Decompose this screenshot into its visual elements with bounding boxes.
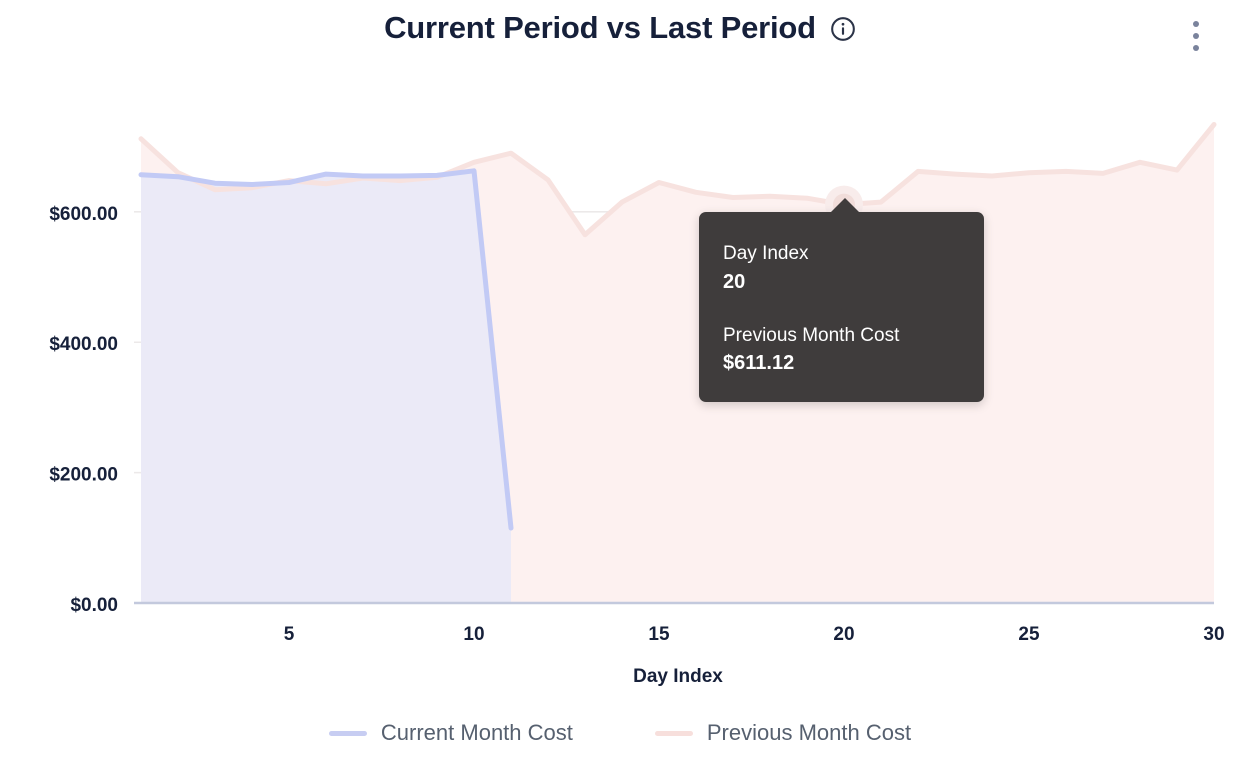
x-axis-tick-label: 15 <box>648 624 670 645</box>
hover-point-marker <box>825 186 863 224</box>
y-axis-tick-label: $200.00 <box>49 465 118 486</box>
legend-item-current-month-cost[interactable]: Current Month Cost <box>329 722 573 744</box>
chart-plot-area[interactable]: $0.00$200.00$400.00$600.00 51015202530 D… <box>0 0 1240 772</box>
x-axis-tick-label: 25 <box>1018 624 1040 645</box>
x-axis-title: Day Index <box>633 666 723 687</box>
legend-item-previous-month-cost[interactable]: Previous Month Cost <box>655 722 911 744</box>
legend-swatch <box>655 731 693 736</box>
legend-swatch <box>329 731 367 736</box>
y-axis-tick-label: $0.00 <box>70 595 118 616</box>
chart-svg: $0.00$200.00$400.00$600.00 51015202530 D… <box>0 0 1240 772</box>
chart-legend: Current Month Cost Previous Month Cost <box>0 722 1240 744</box>
y-axis-tick-label: $600.00 <box>49 204 118 225</box>
hover-dot <box>833 194 855 216</box>
x-axis-tick-label: 30 <box>1203 624 1224 645</box>
x-axis-tick-label: 5 <box>284 624 295 645</box>
x-axis-tick-labels: 51015202530 <box>284 624 1225 645</box>
y-axis-tick-label: $400.00 <box>49 334 118 355</box>
legend-label: Previous Month Cost <box>707 722 911 744</box>
legend-label: Current Month Cost <box>381 722 573 744</box>
x-axis-tick-label: 10 <box>463 624 484 645</box>
x-axis-tick-label: 20 <box>833 624 854 645</box>
y-axis-tick-labels: $0.00$200.00$400.00$600.00 <box>49 204 118 616</box>
series-areas <box>141 125 1214 604</box>
series-area-current-month-cost <box>141 171 511 603</box>
